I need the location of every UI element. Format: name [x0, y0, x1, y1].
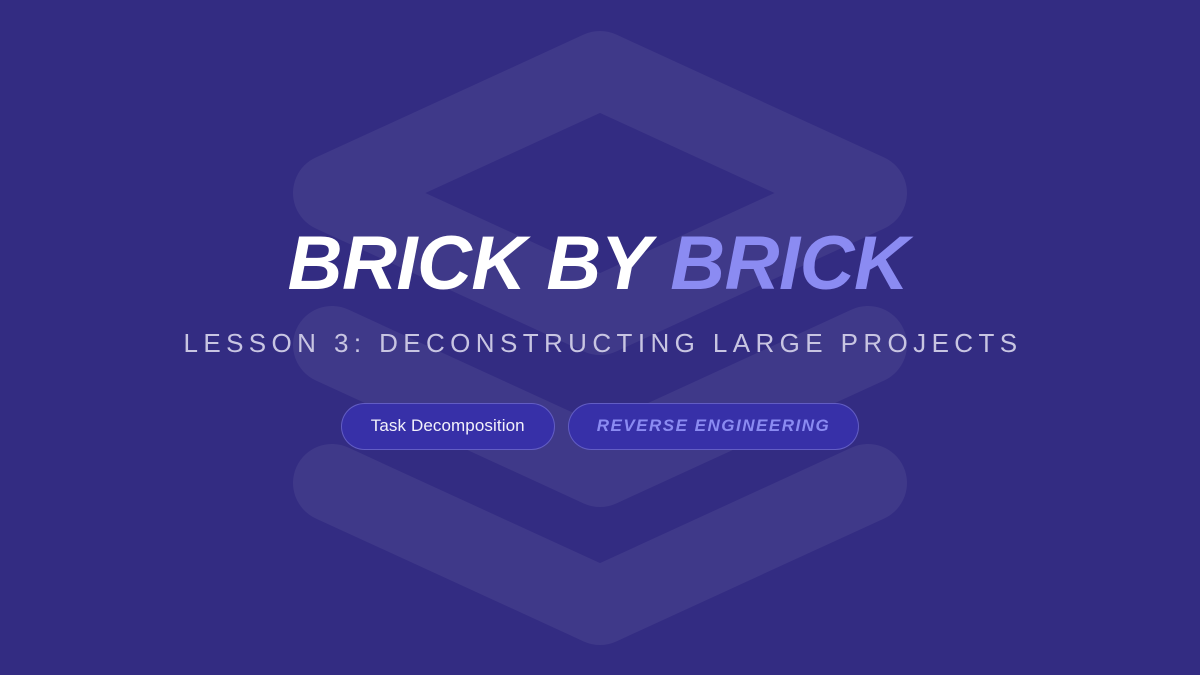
page-title: BRICK BY BRICK — [288, 226, 909, 302]
topic-chip-group: Task Decomposition REVERSE ENGINEERING — [341, 403, 859, 450]
title-accent-text: BRICK — [670, 221, 908, 306]
lesson-subtitle: LESSON 3: DECONSTRUCTING LARGE PROJECTS — [183, 328, 1022, 359]
topic-chip-reverse-engineering[interactable]: REVERSE ENGINEERING — [568, 403, 860, 450]
title-slide: BRICK BY BRICK LESSON 3: DECONSTRUCTING … — [0, 0, 1200, 675]
title-leading-text: BRICK BY — [288, 221, 671, 306]
slide-content: BRICK BY BRICK LESSON 3: DECONSTRUCTING … — [0, 0, 1200, 675]
topic-chip-task-decomposition[interactable]: Task Decomposition — [341, 403, 555, 450]
